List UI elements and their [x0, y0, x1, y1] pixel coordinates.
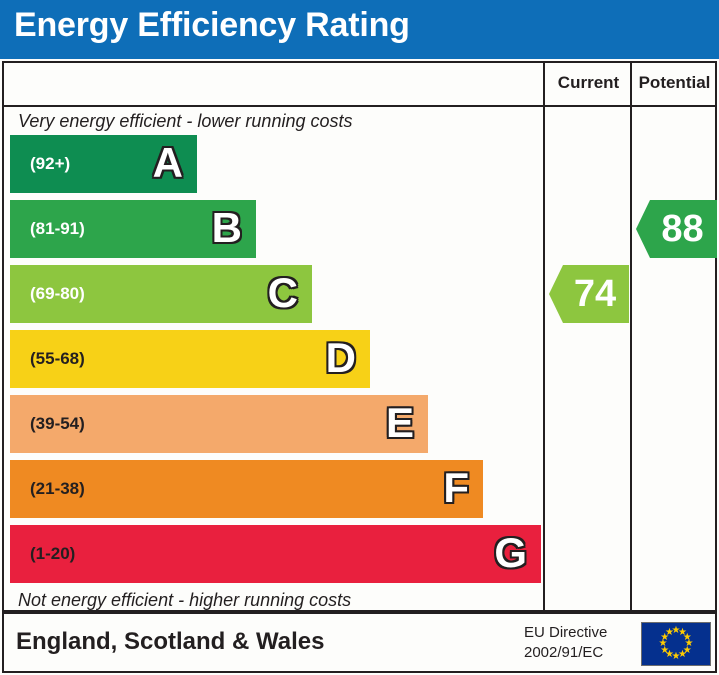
rating-band-f: (21-38)F — [10, 460, 483, 518]
page-title: Energy Efficiency Rating — [14, 6, 410, 45]
band-letter-e: E — [386, 402, 414, 444]
caption-efficient: Very energy efficient - lower running co… — [18, 111, 353, 132]
rating-band-b: (81-91)B — [10, 200, 256, 258]
rating-band-e: (39-54)E — [10, 395, 428, 453]
current-rating-badge: 74 — [549, 265, 629, 323]
potential-column-divider — [630, 63, 632, 610]
band-range-g: (1-20) — [30, 544, 75, 564]
band-letter-b: B — [212, 207, 242, 249]
chart-header-bar: Energy Efficiency Rating — [0, 0, 719, 59]
band-letter-g: G — [494, 532, 527, 574]
current-column-divider — [543, 63, 545, 610]
band-range-b: (81-91) — [30, 219, 85, 239]
rating-band-d: (55-68)D — [10, 330, 370, 388]
band-list: (92+)A(81-91)B(69-80)C(55-68)D(39-54)E(2… — [10, 135, 543, 589]
band-range-c: (69-80) — [30, 284, 85, 304]
band-range-e: (39-54) — [30, 414, 85, 434]
band-letter-f: F — [443, 467, 469, 509]
eu-flag-icon: ★★★★★★★★★★★★ — [641, 622, 711, 666]
rating-band-c: (69-80)C — [10, 265, 312, 323]
band-letter-a: A — [153, 142, 183, 184]
column-header-current: Current — [545, 73, 632, 93]
epc-energy-efficiency-chart: Energy Efficiency Rating Current Potenti… — [0, 0, 719, 675]
potential-rating-badge: 88 — [636, 200, 717, 258]
rating-table: Current Potential Very energy efficient … — [2, 61, 717, 612]
rating-band-a: (92+)A — [10, 135, 197, 193]
caption-inefficient: Not energy efficient - higher running co… — [18, 590, 351, 611]
eu-flag-star: ★ — [665, 628, 675, 638]
footer-bar: England, Scotland & Wales EU Directive 2… — [2, 612, 717, 673]
band-letter-c: C — [268, 272, 298, 314]
directive-line-2: 2002/91/EC — [524, 643, 607, 663]
band-range-a: (92+) — [30, 154, 70, 174]
band-range-d: (55-68) — [30, 349, 85, 369]
band-letter-d: D — [326, 337, 356, 379]
footer-directive: EU Directive 2002/91/EC — [524, 623, 607, 664]
directive-line-1: EU Directive — [524, 623, 607, 643]
band-range-f: (21-38) — [30, 479, 85, 499]
rating-band-g: (1-20)G — [10, 525, 541, 583]
column-header-potential: Potential — [632, 73, 717, 93]
footer-region-label: England, Scotland & Wales — [16, 628, 324, 656]
header-row-divider — [4, 105, 715, 107]
